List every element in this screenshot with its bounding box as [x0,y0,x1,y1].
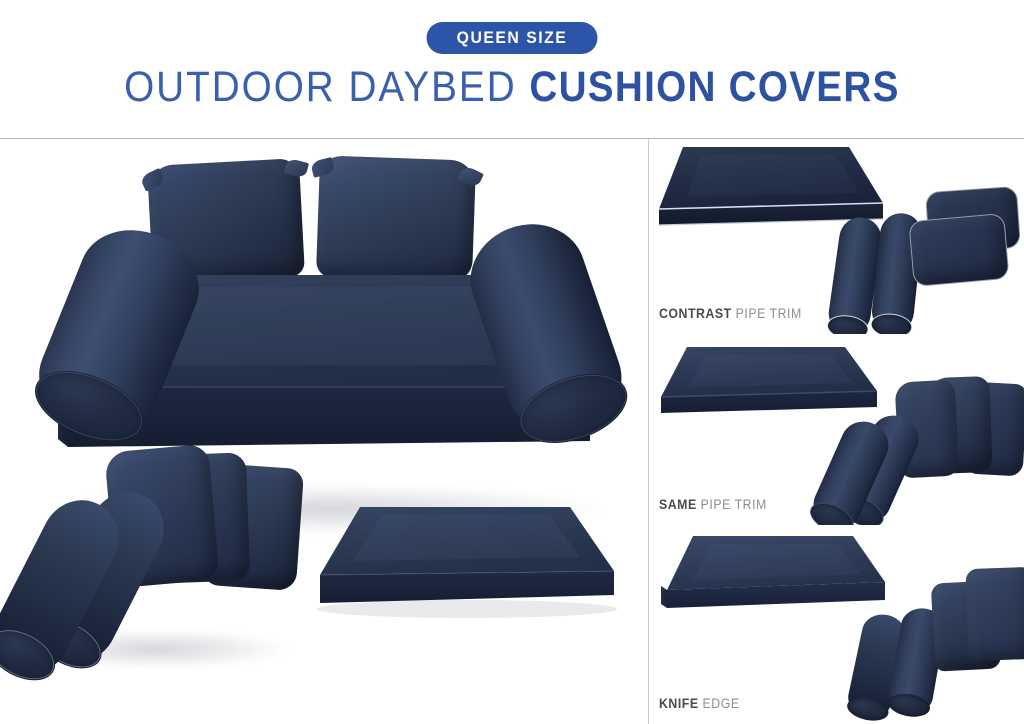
header: QUEEN SIZE OUTDOOR DAYBED CUSHION COVERS [0,0,1024,138]
size-badge-label: QUEEN SIZE [457,29,568,46]
panel-same-pipe-trim: SAME PIPE TRIM [649,335,1024,525]
trim-variants-region: CONTRAST PIPE TRIM [649,139,1024,724]
panel-label-knife: KNIFE EDGE [659,696,751,710]
pillow-face [965,567,1024,661]
bolsters-and-pillows-group [12,444,302,674]
knife-mattress-cushion [657,532,893,620]
panel-label-soft: PIPE TRIM [701,496,767,512]
panel-knife-edge: KNIFE EDGE [649,526,1024,724]
knife-back-pillow [965,567,1024,661]
pillow-face [316,155,476,282]
panel-label-strong: CONTRAST [659,305,732,321]
panel-label-soft: PIPE TRIM [736,305,802,321]
page-title-light: OUTDOOR DAYBED [124,63,517,111]
contrast-back-pillow [908,213,1009,287]
pillow-face [908,213,1009,287]
panel-label-soft: EDGE [703,695,740,711]
panel-label-strong: SAME [659,496,697,512]
page-title-bold: CUSHION COVERS [529,63,899,111]
main-showcase-region [0,139,648,724]
panel-label-same: SAME PIPE TRIM [659,497,782,511]
panel-contrast-pipe-trim: CONTRAST PIPE TRIM [649,139,1024,334]
page-title: OUTDOOR DAYBED CUSHION COVERS [0,66,1024,109]
size-badge: QUEEN SIZE [427,22,598,54]
back-pillow-right [316,155,476,282]
daybed-mattress-cushion [312,499,622,629]
panel-label-contrast: CONTRAST PIPE TRIM [659,306,821,320]
panel-label-strong: KNIFE [659,695,699,711]
same-mattress-cushion [655,343,891,423]
product-infographic: QUEEN SIZE OUTDOOR DAYBED CUSHION COVERS [0,0,1024,724]
